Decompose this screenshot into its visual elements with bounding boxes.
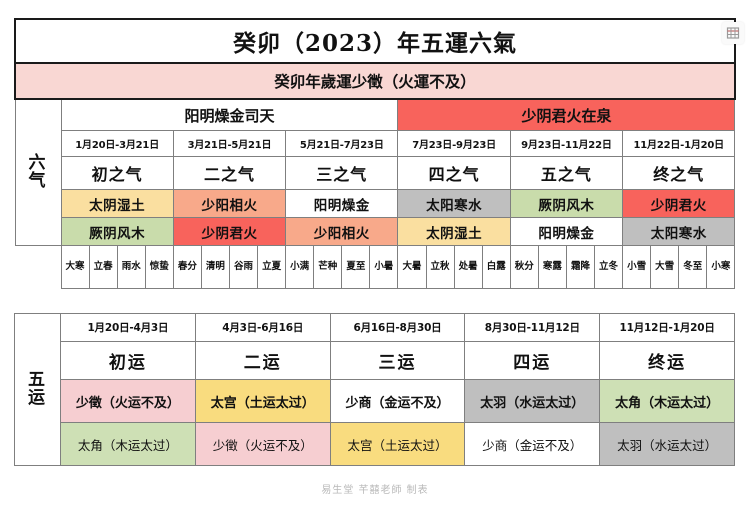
solar-term-19-c1: 霜降 [567, 262, 594, 272]
yun-name-3: 三运 [330, 342, 465, 380]
host-yun-2: 少徵（火运不及） [195, 423, 330, 466]
six-qi-label-char-1: 六 [16, 155, 61, 173]
qi-date-row: 1月20日-3月21日 3月21日-5月21日 5月21日-7月23日 7月23… [15, 131, 735, 157]
guest-yun-2: 太宫（土运太过） [195, 380, 330, 423]
solar-term-21-c1: 小雪 [623, 262, 650, 272]
rule-row: 六 气 阳明燥金司天 少阴君火在泉 [15, 99, 735, 131]
yun-date-4: 8月30日-11月12日 [465, 314, 600, 342]
solar-term-11-c1: 夏至 [342, 262, 369, 272]
solar-term-14-c1: 立秋 [427, 262, 454, 272]
solar-term-2: 立春 [89, 246, 117, 289]
host-yun-row: 太角（木运太过） 少徵（火运不及） 太宫（土运太过） 少商（金运不及） 太羽（水… [15, 423, 735, 466]
solar-term-2-c1: 立春 [90, 262, 117, 272]
guest-qi-2: 少阳相火 [173, 190, 285, 218]
host-yun-4: 少商（金运不及） [465, 423, 600, 466]
guest-qi-5: 厥阴风木 [510, 190, 622, 218]
qi-name-2: 二之气 [173, 157, 285, 190]
host-qi-row: 厥阴风木 少阴君火 少阳相火 太阴湿土 阳明燥金 太阳寒水 [15, 218, 735, 246]
yun-name-4: 四运 [465, 342, 600, 380]
yun-date-2: 4月3日-6月16日 [195, 314, 330, 342]
solar-term-17-c1: 秋分 [511, 262, 538, 272]
solar-term-6: 清明 [201, 246, 229, 289]
qi-name-4: 四之气 [398, 157, 510, 190]
solar-term-5: 春分 [173, 246, 201, 289]
guest-qi-6: 少阴君火 [623, 190, 735, 218]
host-qi-1: 厥阴风木 [61, 218, 173, 246]
host-qi-5: 阳明燥金 [510, 218, 622, 246]
qi-name-row: 初之气 二之气 三之气 四之气 五之气 终之气 [15, 157, 735, 190]
guest-yun-row: 少徵（火运不及） 太宫（土运太过） 少商（金运不及） 太羽（水运太过） 太角（木… [15, 380, 735, 423]
solar-term-15-c1: 处暑 [455, 262, 482, 272]
qi-date-1: 1月20日-3月21日 [61, 131, 173, 157]
solar-term-24: 小寒 [707, 246, 735, 289]
solar-term-14: 立秋 [426, 246, 454, 289]
solar-term-10: 芒种 [314, 246, 342, 289]
solar-term-17: 秋分 [510, 246, 538, 289]
qi-name-1: 初之气 [61, 157, 173, 190]
host-qi-4: 太阴湿土 [398, 218, 510, 246]
solar-term-9-c1: 小满 [286, 262, 313, 272]
solar-term-19: 霜降 [566, 246, 594, 289]
solar-term-12-c1: 小暑 [370, 262, 397, 272]
year-note-row: 癸卯年歲運少徵（火運不及） [15, 63, 735, 99]
solar-term-1: 大寒 [61, 246, 89, 289]
solar-term-20: 立冬 [594, 246, 622, 289]
solar-term-22: 大雪 [651, 246, 679, 289]
guest-yun-1: 少徵（火运不及） [61, 380, 196, 423]
si-tian-cell: 阳明燥金司天 [61, 99, 398, 131]
solar-term-7: 谷雨 [229, 246, 257, 289]
guest-yun-4: 太羽（水运太过） [465, 380, 600, 423]
yun-date-3: 6月16日-8月30日 [330, 314, 465, 342]
yun-name-5: 终运 [600, 342, 735, 380]
six-qi-table: 癸卯（2023）年五運六氣 癸卯年歲運少徵（火運不及） 六 气 阳明燥金司天 少… [14, 18, 736, 289]
host-qi-2: 少阴君火 [173, 218, 285, 246]
solar-term-22-c1: 大雪 [651, 262, 678, 272]
host-qi-6: 太阳寒水 [623, 218, 735, 246]
solar-term-10-c1: 芒种 [314, 262, 341, 272]
host-yun-5: 太羽（水运太过） [600, 423, 735, 466]
solar-term-13: 大暑 [398, 246, 426, 289]
solar-term-8: 立夏 [258, 246, 286, 289]
six-qi-side-label: 六 气 [15, 99, 61, 246]
yun-name-1: 初运 [61, 342, 196, 380]
guest-qi-4: 太阳寒水 [398, 190, 510, 218]
host-yun-1: 太角（木运太过） [61, 423, 196, 466]
title-row: 癸卯（2023）年五運六氣 [15, 19, 735, 63]
solar-terms-spacer [15, 246, 61, 289]
host-qi-3: 少阳相火 [286, 218, 398, 246]
five-yun-side-label: 五 运 [15, 314, 61, 466]
solar-term-24-c1: 小寒 [707, 262, 734, 272]
qi-date-4: 7月23日-9月23日 [398, 131, 510, 157]
guest-qi-1: 太阴湿土 [61, 190, 173, 218]
yun-name-2: 二运 [195, 342, 330, 380]
solar-term-8-c1: 立夏 [258, 262, 285, 272]
solar-terms-row: 大寒 立春 雨水 惊蛰 春分 清明 谷雨 立夏 小满 芒种 夏至 小暑 大暑 立… [15, 246, 735, 289]
solar-term-18: 寒露 [538, 246, 566, 289]
solar-term-7-c1: 谷雨 [230, 262, 257, 272]
zai-quan-cell: 少阴君火在泉 [398, 99, 735, 131]
yun-date-row: 五 运 1月20日-4月3日 4月3日-6月16日 6月16日-8月30日 8月… [15, 314, 735, 342]
solar-term-21: 小雪 [623, 246, 651, 289]
solar-term-3-c1: 雨水 [118, 262, 145, 272]
solar-term-1-c1: 大寒 [62, 262, 89, 272]
yun-date-1: 1月20日-4月3日 [61, 314, 196, 342]
guest-yun-5: 太角（木运太过） [600, 380, 735, 423]
solar-term-9: 小满 [286, 246, 314, 289]
qi-name-5: 五之气 [510, 157, 622, 190]
host-yun-3: 太宫（土运太过） [330, 423, 465, 466]
solar-term-23-c1: 冬至 [679, 262, 706, 272]
year-note: 癸卯年歲運少徵（火運不及） [15, 63, 735, 99]
page-title: 癸卯（2023）年五運六氣 [15, 19, 735, 63]
solar-term-3: 雨水 [117, 246, 145, 289]
solar-term-4-c1: 惊蛰 [146, 262, 173, 272]
solar-term-5-c1: 春分 [174, 262, 201, 272]
solar-term-16-c1: 白露 [483, 262, 510, 272]
solar-term-18-c1: 寒露 [539, 262, 566, 272]
six-qi-label-char-2: 气 [16, 173, 61, 191]
solar-term-11: 夏至 [342, 246, 370, 289]
yun-date-5: 11月12日-1月20日 [600, 314, 735, 342]
qi-name-6: 终之气 [623, 157, 735, 190]
yun-name-row: 初运 二运 三运 四运 终运 [15, 342, 735, 380]
chart-watermark-icon[interactable] [722, 22, 744, 44]
solar-term-16: 白露 [482, 246, 510, 289]
solar-term-6-c1: 清明 [202, 262, 229, 272]
qi-date-5: 9月23日-11月22日 [510, 131, 622, 157]
qi-date-6: 11月22日-1月20日 [623, 131, 735, 157]
credit-text: 易生堂 芊囍老師 制表 [0, 481, 750, 496]
solar-term-12: 小暑 [370, 246, 398, 289]
five-yun-table: 五 运 1月20日-4月3日 4月3日-6月16日 6月16日-8月30日 8月… [14, 313, 735, 466]
qi-date-2: 3月21日-5月21日 [173, 131, 285, 157]
qi-name-3: 三之气 [286, 157, 398, 190]
five-yun-label-char-2: 运 [15, 390, 60, 408]
guest-yun-3: 少商（金运不及） [330, 380, 465, 423]
five-yun-label-char-1: 五 [15, 372, 60, 390]
solar-term-15: 处暑 [454, 246, 482, 289]
solar-term-4: 惊蛰 [145, 246, 173, 289]
solar-term-13-c1: 大暑 [398, 262, 425, 272]
guest-qi-3: 阳明燥金 [286, 190, 398, 218]
solar-term-20-c1: 立冬 [595, 262, 622, 272]
guest-qi-row: 太阴湿土 少阳相火 阳明燥金 太阳寒水 厥阴风木 少阴君火 [15, 190, 735, 218]
qi-date-3: 5月21日-7月23日 [286, 131, 398, 157]
solar-term-23: 冬至 [679, 246, 707, 289]
